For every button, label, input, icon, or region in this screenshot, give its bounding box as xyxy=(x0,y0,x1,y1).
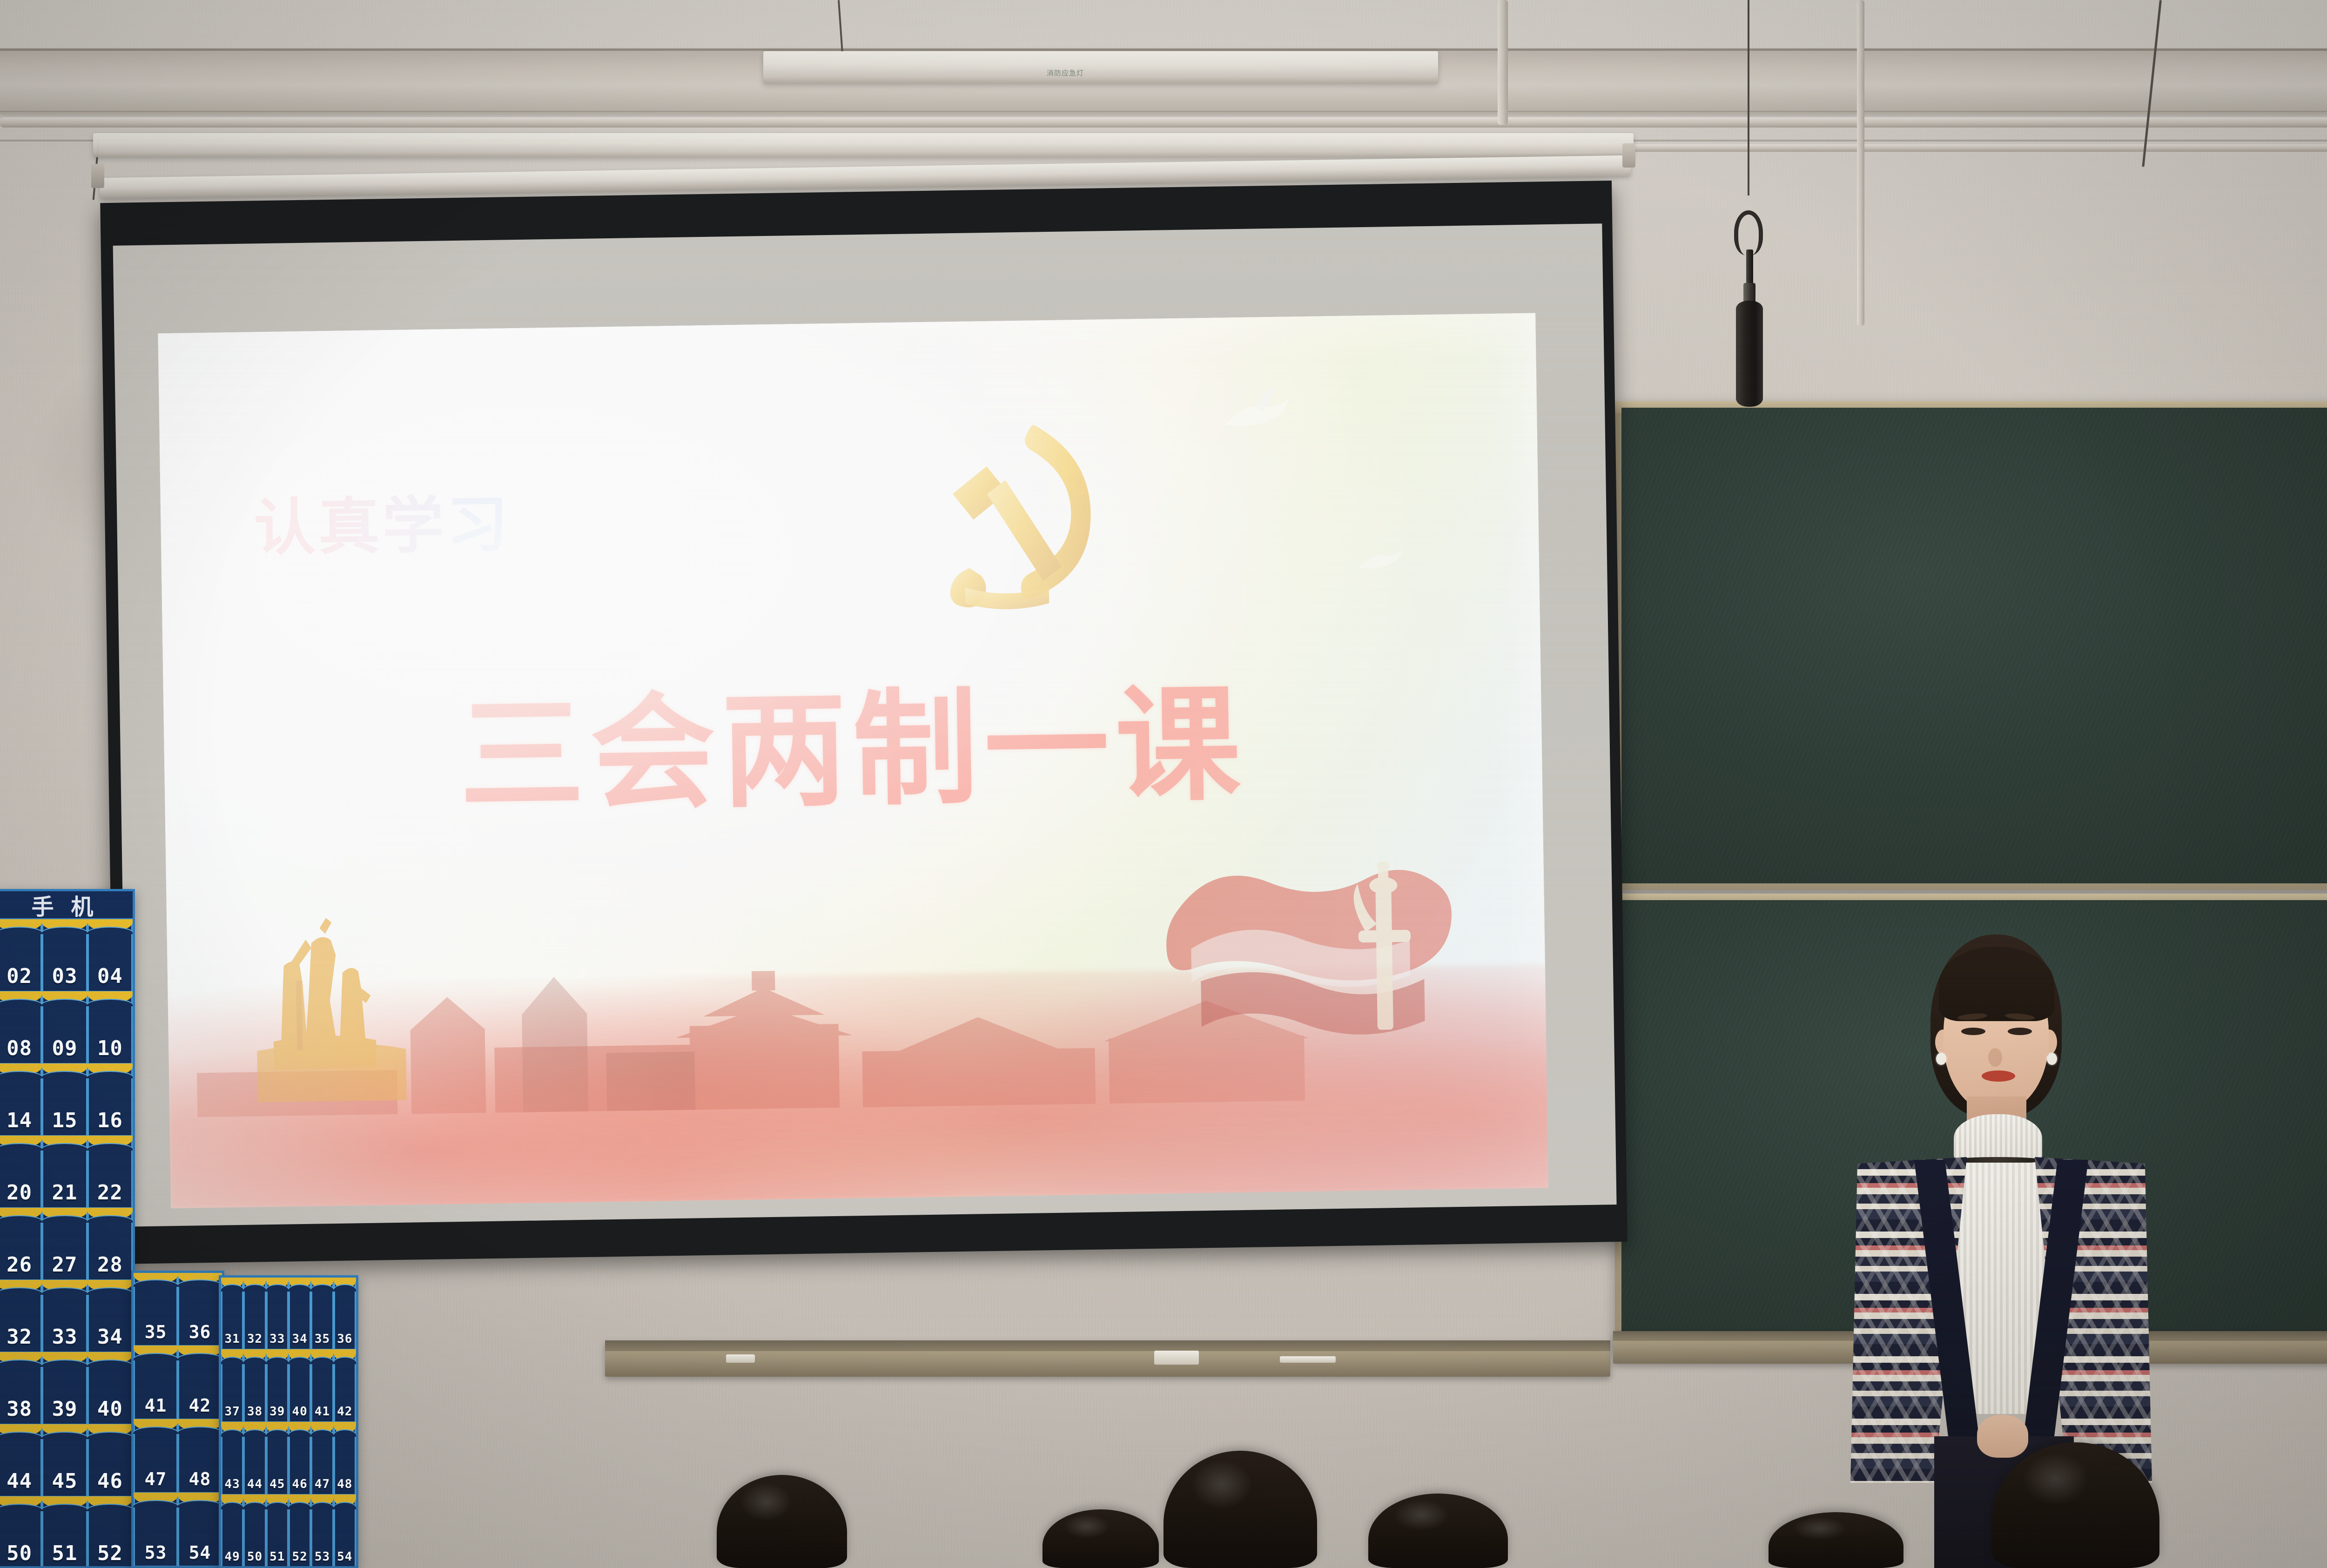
dove-icon xyxy=(1215,382,1300,453)
pocket-number: 54 xyxy=(337,1550,352,1564)
dove-icon-small xyxy=(1352,538,1409,586)
phone-pocket[interactable]: 46 xyxy=(87,1425,133,1497)
slide-landscape-artwork xyxy=(166,834,1548,1208)
phone-pocket[interactable]: 34 xyxy=(87,1281,133,1353)
phone-pocket[interactable]: 46 xyxy=(289,1423,311,1495)
screen-roller-bracket-left xyxy=(91,164,104,188)
slide-bottom-wash xyxy=(168,1034,1548,1208)
phone-pocket[interactable]: 42 xyxy=(334,1350,356,1423)
phone-pocket[interactable]: 45 xyxy=(42,1425,87,1497)
pocket-number: 32 xyxy=(7,1325,32,1349)
phone-pocket[interactable]: 49 xyxy=(221,1495,243,1568)
phone-pocket[interactable]: 45 xyxy=(266,1423,289,1495)
hair-sheen xyxy=(1063,1514,1110,1539)
pocket-number: 33 xyxy=(52,1325,78,1349)
soffit-highlight-line xyxy=(0,111,2327,112)
soffit-shadow-line xyxy=(0,48,2327,51)
pocket-number: 42 xyxy=(337,1405,352,1419)
pocket-number: 45 xyxy=(52,1469,78,1493)
pocket-number: 46 xyxy=(292,1477,307,1491)
phone-pocket[interactable]: 04 xyxy=(87,920,133,992)
phone-pocket[interactable]: 22 xyxy=(87,1137,133,1209)
presenter-eye-right xyxy=(2008,1028,2032,1035)
pocket-number: 50 xyxy=(247,1550,262,1564)
pocket-number: 14 xyxy=(7,1109,32,1132)
organizer-row: 383940 xyxy=(0,1353,133,1425)
phone-pocket[interactable]: 52 xyxy=(289,1495,311,1568)
phone-pocket[interactable]: 54 xyxy=(178,1494,222,1567)
phone-pocket[interactable]: 27 xyxy=(42,1209,87,1281)
microphone-connector xyxy=(1743,283,1755,303)
chalk-piece[interactable] xyxy=(1280,1356,1336,1363)
pocket-number: 42 xyxy=(189,1395,211,1416)
pocket-number: 52 xyxy=(292,1550,307,1564)
hair-sheen xyxy=(1393,1500,1449,1531)
pocket-number: 51 xyxy=(52,1541,78,1565)
phone-pocket[interactable]: 53 xyxy=(134,1494,178,1567)
blackboard-panel-upper xyxy=(1615,401,2327,890)
phone-pocket[interactable]: 15 xyxy=(42,1064,87,1137)
phone-pocket[interactable]: 38 xyxy=(0,1353,42,1425)
organizer-row: 5354 xyxy=(134,1494,222,1567)
pocket-number: 20 xyxy=(7,1181,32,1205)
organizer-row: 444546 xyxy=(0,1425,133,1497)
phone-pocket[interactable]: 39 xyxy=(266,1350,289,1423)
chalk-tray-lip xyxy=(605,1340,1610,1351)
phone-pocket[interactable]: 08 xyxy=(0,992,42,1064)
pocket-number: 10 xyxy=(97,1036,123,1060)
organizer-row: 262728 xyxy=(0,1209,133,1281)
organizer-pocket-grid: 0203040809101415162021222627283233343839… xyxy=(0,920,133,1568)
projection-screen[interactable]: 认真学习 三会两制一课 xyxy=(100,181,1627,1264)
lamp-label: 消防应急灯 xyxy=(1047,68,1084,78)
organizer-row: 495051525354 xyxy=(221,1495,356,1568)
organizer-row: 313233343536 xyxy=(221,1278,356,1350)
organizer-header-text: 手 机 xyxy=(32,889,98,921)
pocket-number: 54 xyxy=(189,1542,211,1563)
phone-pocket[interactable]: 09 xyxy=(42,992,87,1064)
chalk-piece[interactable] xyxy=(1154,1351,1199,1365)
phone-pocket[interactable]: 28 xyxy=(87,1209,133,1281)
phone-pocket[interactable]: 34 xyxy=(289,1278,311,1350)
pocket-number: 31 xyxy=(225,1332,240,1346)
pocket-number: 35 xyxy=(315,1332,330,1346)
pocket-number: 38 xyxy=(7,1397,32,1421)
phone-pocket-organizer-right[interactable]: 3132333435363738394041424344454647484950… xyxy=(219,1275,358,1568)
phone-pocket[interactable]: 35 xyxy=(134,1273,178,1346)
phone-pocket[interactable]: 44 xyxy=(0,1425,42,1497)
chalk-tray xyxy=(605,1340,1610,1377)
pocket-number: 41 xyxy=(145,1395,167,1416)
phone-pocket[interactable]: 54 xyxy=(334,1495,356,1568)
slide-title: 三会两制一课 xyxy=(458,643,1248,835)
phone-pocket[interactable]: 47 xyxy=(134,1420,178,1494)
pocket-number: 34 xyxy=(97,1325,123,1349)
organizer-pocket-grid-middle: 3536414247485354 xyxy=(134,1273,222,1567)
presenter-nose xyxy=(1988,1048,2002,1067)
organizer-row: 080910 xyxy=(0,992,133,1064)
pocket-number: 26 xyxy=(7,1253,32,1277)
organizer-row: 3536 xyxy=(134,1273,222,1346)
phone-pocket[interactable]: 33 xyxy=(42,1281,87,1353)
pocket-number: 03 xyxy=(52,964,78,988)
pocket-number: 36 xyxy=(189,1322,211,1342)
projection-screen-surface: 认真学习 三会两制一课 xyxy=(113,223,1617,1226)
hammer-and-sickle-emblem xyxy=(922,412,1121,615)
phone-pocket[interactable]: 39 xyxy=(42,1353,87,1425)
phone-pocket[interactable]: 51 xyxy=(266,1495,289,1568)
phone-pocket[interactable]: 16 xyxy=(87,1064,133,1137)
pocket-number: 48 xyxy=(189,1469,211,1489)
phone-pocket[interactable]: 52 xyxy=(87,1497,133,1568)
phone-pocket[interactable]: 02 xyxy=(0,920,42,992)
organizer-row: 434445464748 xyxy=(221,1423,356,1495)
phone-pocket[interactable]: 20 xyxy=(0,1137,42,1209)
pocket-number: 44 xyxy=(247,1477,262,1491)
pocket-number: 09 xyxy=(52,1036,78,1060)
pocket-number: 48 xyxy=(337,1477,352,1491)
phone-pocket[interactable]: 36 xyxy=(334,1278,356,1350)
phone-pocket[interactable]: 38 xyxy=(243,1350,266,1423)
chalk-piece[interactable] xyxy=(726,1354,755,1363)
hair-sheen xyxy=(2022,1453,2089,1505)
pocket-number: 15 xyxy=(52,1109,78,1132)
electrical-conduit-vertical-2 xyxy=(1857,0,1864,326)
pocket-number: 53 xyxy=(315,1550,330,1564)
pocket-number: 28 xyxy=(97,1253,123,1277)
projected-slide: 认真学习 三会两制一课 xyxy=(158,313,1548,1208)
microphone-hook xyxy=(1734,210,1763,255)
organizer-row: 505152 xyxy=(0,1497,133,1568)
phone-pocket[interactable]: 51 xyxy=(42,1497,87,1568)
pocket-number: 33 xyxy=(269,1332,285,1346)
pocket-number: 44 xyxy=(7,1469,32,1493)
hair-sheen xyxy=(1191,1460,1252,1509)
phone-pocket[interactable]: 43 xyxy=(221,1423,243,1495)
pocket-number: 08 xyxy=(7,1036,32,1060)
screen-roller-bracket-right xyxy=(1622,143,1635,168)
pocket-number: 35 xyxy=(145,1322,167,1342)
phone-pocket[interactable]: 40 xyxy=(87,1353,133,1425)
pocket-number: 21 xyxy=(52,1181,78,1205)
phone-pocket-organizer-left[interactable]: 手 机 020304080910141516202122262728323334… xyxy=(0,889,135,1568)
slide-subtitle: 认真学习 xyxy=(253,475,511,567)
presenter-lips xyxy=(1982,1070,2015,1082)
pocket-number: 47 xyxy=(315,1477,330,1491)
organizer-row: 323334 xyxy=(0,1281,133,1353)
classroom-scene: 消防应急灯 xyxy=(0,0,2327,1568)
phone-pocket[interactable]: 47 xyxy=(311,1423,333,1495)
phone-pocket[interactable]: 48 xyxy=(178,1420,222,1494)
pocket-number: 50 xyxy=(7,1541,32,1565)
microphone-suspension-wire xyxy=(1748,0,1749,195)
phone-pocket[interactable]: 50 xyxy=(243,1495,266,1568)
pocket-number: 39 xyxy=(269,1405,285,1419)
organizer-row: 141516 xyxy=(0,1064,133,1137)
phone-pocket[interactable]: 21 xyxy=(42,1137,87,1209)
presenter-earring-right xyxy=(2047,1053,2057,1065)
electrical-conduit-vertical xyxy=(1498,0,1508,125)
phone-pocket[interactable]: 41 xyxy=(311,1350,333,1423)
phone-pocket[interactable]: 48 xyxy=(334,1423,356,1495)
pocket-number: 38 xyxy=(247,1405,262,1419)
pocket-number: 47 xyxy=(145,1469,167,1489)
phone-pocket[interactable]: 42 xyxy=(178,1346,222,1420)
pocket-number: 52 xyxy=(97,1541,123,1565)
pocket-number: 45 xyxy=(269,1477,285,1491)
pocket-number: 41 xyxy=(315,1405,330,1419)
phone-pocket[interactable]: 36 xyxy=(178,1273,222,1346)
phone-pocket[interactable]: 32 xyxy=(0,1281,42,1353)
phone-pocket[interactable]: 14 xyxy=(0,1064,42,1137)
organizer-row: 4142 xyxy=(134,1346,222,1420)
pocket-number: 39 xyxy=(52,1397,78,1421)
phone-pocket[interactable]: 41 xyxy=(134,1346,178,1420)
presenter-earring-left xyxy=(1936,1053,1946,1065)
hair-sheen xyxy=(1793,1517,1847,1540)
presenter-hands xyxy=(1977,1415,2028,1458)
electrical-conduit-horizontal xyxy=(0,117,2327,128)
phone-pocket[interactable]: 31 xyxy=(221,1278,243,1350)
pocket-number: 51 xyxy=(269,1550,285,1564)
pocket-number: 49 xyxy=(225,1550,240,1564)
phone-pocket[interactable]: 26 xyxy=(0,1209,42,1281)
organizer-row: 020304 xyxy=(0,920,133,992)
phone-pocket[interactable]: 33 xyxy=(266,1278,289,1350)
pocket-number: 34 xyxy=(292,1332,307,1346)
organizer-row: 373839404142 xyxy=(221,1350,356,1423)
phone-pocket[interactable]: 32 xyxy=(243,1278,266,1350)
pocket-number: 27 xyxy=(52,1253,78,1277)
pocket-number: 22 xyxy=(97,1181,123,1205)
organizer-row: 4748 xyxy=(134,1420,222,1494)
pocket-number: 02 xyxy=(7,964,32,988)
pocket-number: 53 xyxy=(145,1542,167,1563)
pocket-number: 37 xyxy=(225,1405,240,1419)
pocket-number: 04 xyxy=(97,964,123,988)
pocket-number: 32 xyxy=(247,1332,262,1346)
fluorescent-lamp-fixture-left xyxy=(93,133,1634,157)
phone-pocket[interactable]: 37 xyxy=(221,1350,243,1423)
hanging-microphone[interactable] xyxy=(1736,301,1763,407)
phone-pocket[interactable]: 35 xyxy=(311,1278,333,1350)
pocket-number: 46 xyxy=(97,1469,123,1493)
phone-pocket-organizer-middle[interactable]: 3536414247485354 xyxy=(131,1271,224,1568)
organizer-row: 202122 xyxy=(0,1137,133,1209)
presenter-hair-fringe xyxy=(1939,947,2054,1021)
pocket-number: 43 xyxy=(225,1477,240,1491)
organizer-header: 手 机 xyxy=(0,891,133,920)
pocket-number: 36 xyxy=(337,1332,352,1346)
phone-pocket[interactable]: 53 xyxy=(311,1495,333,1568)
organizer-pocket-grid-right: 3132333435363738394041424344454647484950… xyxy=(221,1278,356,1568)
presenter-eye-left xyxy=(1961,1028,1985,1035)
phone-pocket[interactable]: 10 xyxy=(87,992,133,1064)
blackboard-surface-upper xyxy=(1621,408,2327,883)
phone-pocket[interactable]: 44 xyxy=(243,1423,266,1495)
phone-pocket[interactable]: 03 xyxy=(42,920,87,992)
fluorescent-lamp-fixture: 消防应急灯 xyxy=(763,51,1438,84)
pocket-number: 16 xyxy=(97,1109,123,1132)
pocket-number: 40 xyxy=(292,1405,307,1419)
phone-pocket[interactable]: 40 xyxy=(289,1350,311,1423)
phone-pocket[interactable]: 50 xyxy=(0,1497,42,1568)
pocket-number: 40 xyxy=(97,1397,123,1421)
hair-sheen xyxy=(740,1482,792,1521)
